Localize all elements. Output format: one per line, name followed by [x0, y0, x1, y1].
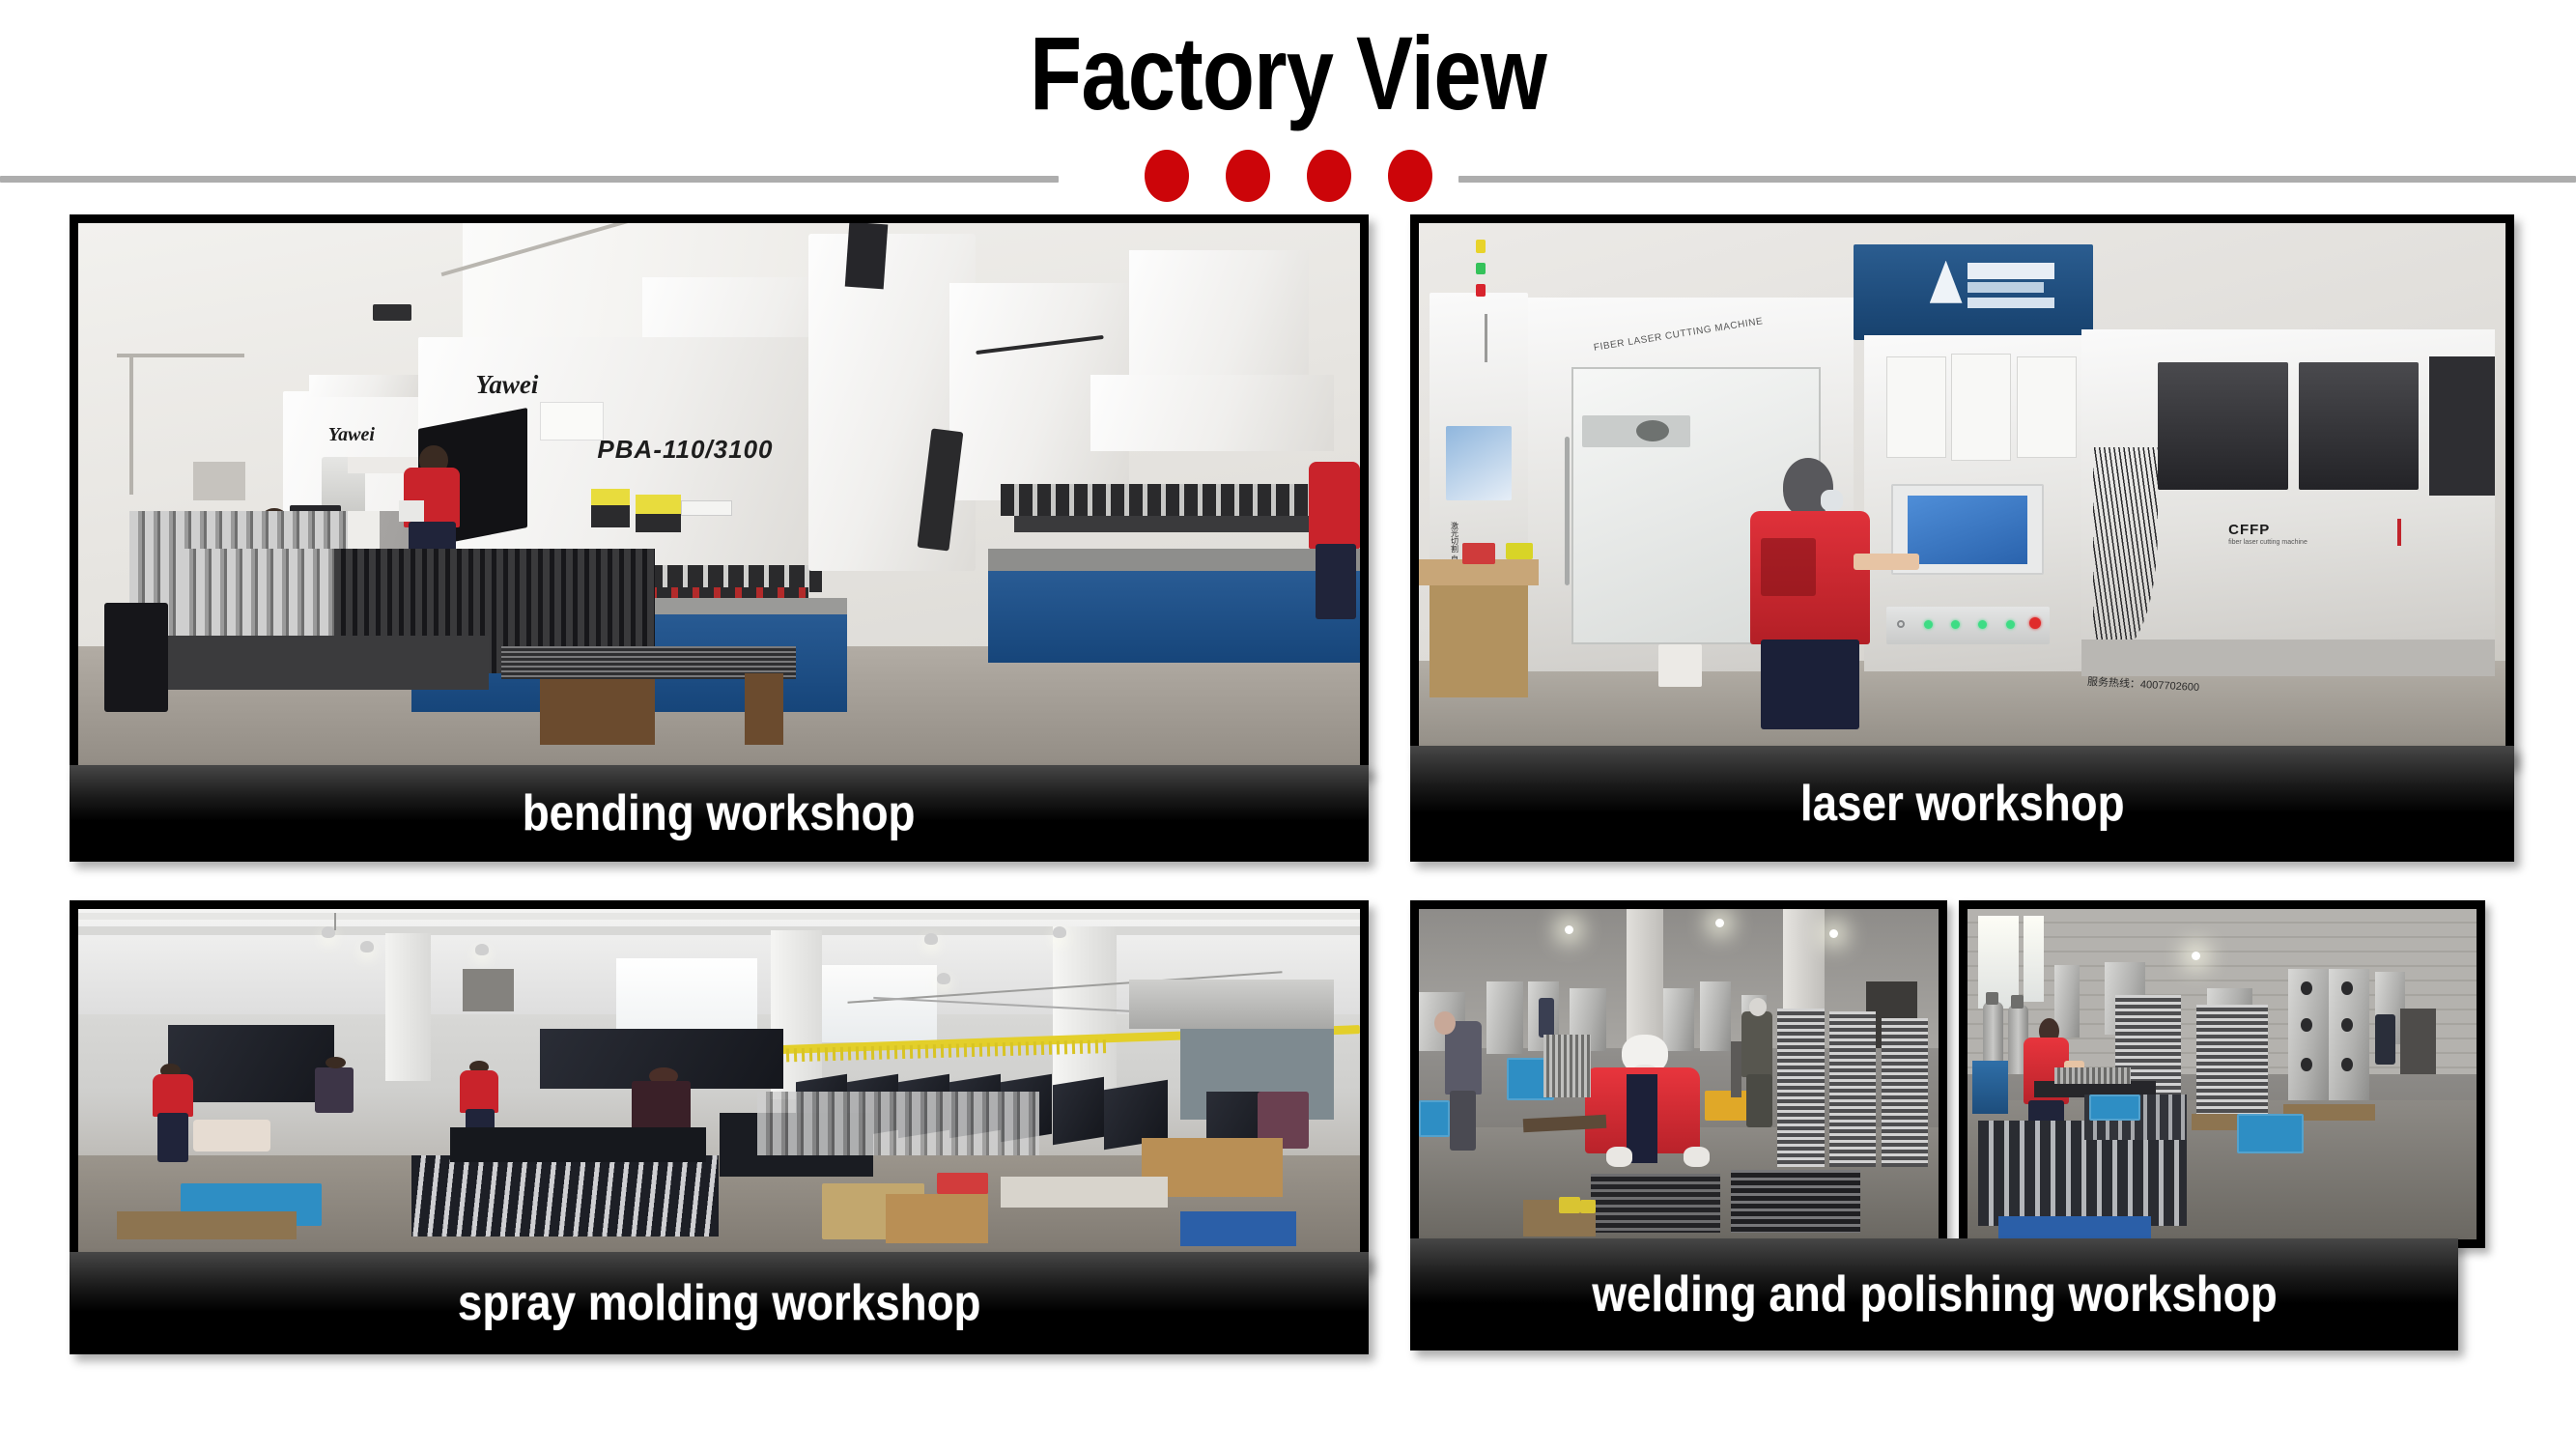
machine-brand-label-right: Yawei: [475, 370, 538, 400]
machine-brand-label-left: Yawei: [328, 424, 375, 446]
factory-view-page: Factory View Yawei: [0, 0, 2576, 1450]
caption-label-laser: laser workshop: [1800, 779, 2125, 829]
photo-frame-polishing: [1959, 900, 2485, 1248]
machine-brand-subtext: fiber laser cutting machine: [2228, 539, 2424, 546]
caption-label-bending: bending workshop: [523, 788, 916, 839]
photo-spray-molding-workshop: [78, 909, 1360, 1261]
photo-frame-laser: 激光切割 自动化 高效率 FIBER LASER CUTTING MACHINE: [1410, 214, 2514, 765]
red-dot-icon-2: [1226, 150, 1270, 202]
caption-label-spray: spray molding workshop: [458, 1278, 981, 1328]
panel-bending-workshop[interactable]: Yawei: [70, 214, 1369, 862]
photo-welding-area: [1419, 909, 1939, 1239]
caption-bar-bending: bending workshop: [70, 765, 1369, 862]
caption-bar-welding: welding and polishing workshop: [1410, 1238, 2458, 1350]
photo-laser-workshop: 激光切割 自动化 高效率 FIBER LASER CUTTING MACHINE: [1419, 223, 2505, 756]
photo-frame-welding: [1410, 900, 1947, 1248]
panel-spray-molding-workshop[interactable]: spray molding workshop: [70, 900, 1369, 1354]
photo-bending-workshop: Yawei: [78, 223, 1360, 766]
caption-bar-laser: laser workshop: [1410, 746, 2514, 862]
red-dot-icon-3: [1307, 150, 1351, 202]
photo-polishing-area: [1967, 909, 2477, 1239]
photo-frame-spray: [70, 900, 1369, 1269]
machine-brand-label-cffp: CFFP: [2228, 522, 2424, 538]
caption-label-welding: welding and polishing workshop: [1592, 1269, 2277, 1320]
red-dot-icon-4: [1388, 150, 1432, 202]
page-header: Factory View: [0, 0, 2576, 205]
page-title: Factory View: [232, 21, 2344, 126]
red-dot-group: [0, 150, 2576, 202]
photo-frame-bending: Yawei: [70, 214, 1369, 775]
panel-laser-workshop[interactable]: 激光切割 自动化 高效率 FIBER LASER CUTTING MACHINE: [1410, 214, 2514, 862]
machine-model-label: PBA-110/3100: [597, 435, 773, 465]
red-dot-icon-1: [1145, 150, 1189, 202]
panel-welding-polishing-workshop[interactable]: welding and polishing workshop: [1410, 900, 2514, 1354]
caption-bar-spray: spray molding workshop: [70, 1252, 1369, 1354]
